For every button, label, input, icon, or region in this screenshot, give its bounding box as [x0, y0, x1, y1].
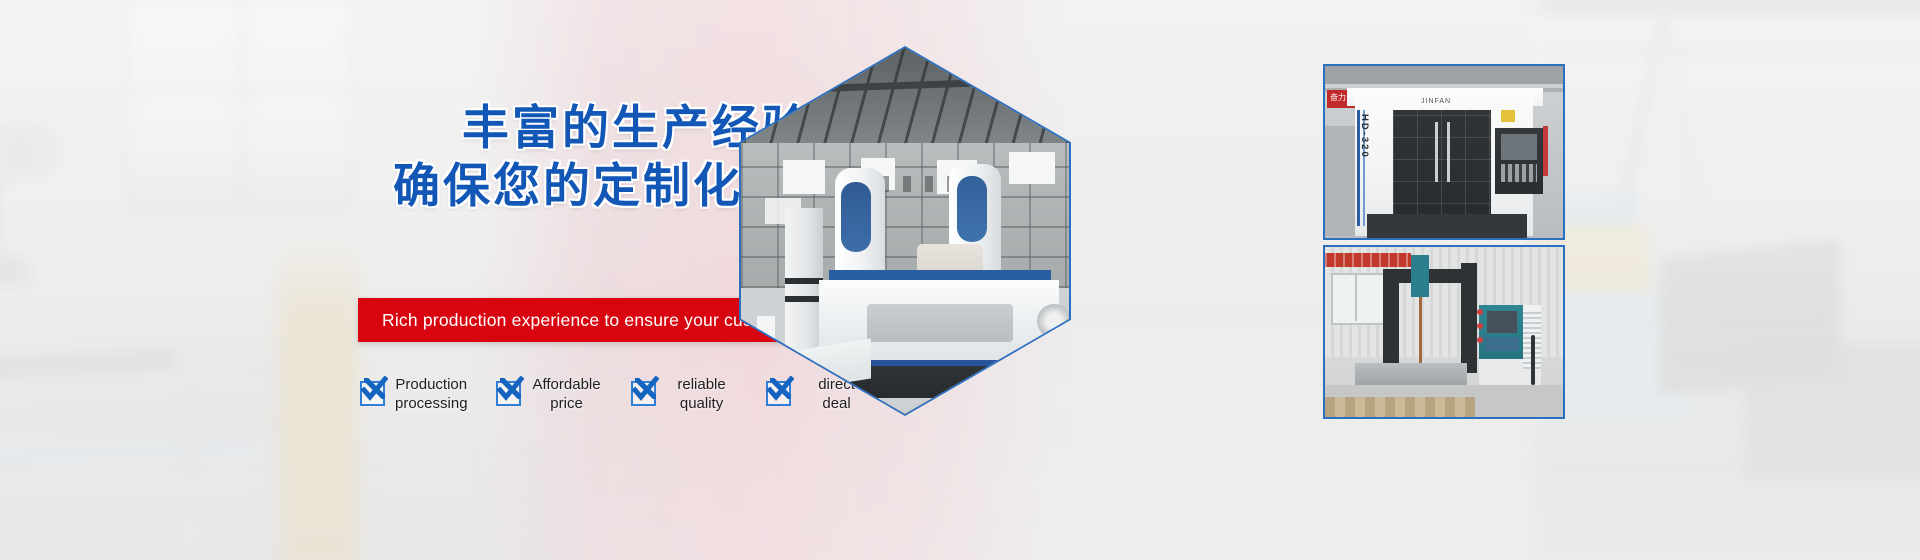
warning-label	[1501, 110, 1515, 122]
pendant-cable	[1531, 335, 1535, 385]
feature-label-line-2: quality	[666, 394, 738, 413]
machine-gantry-left-window	[841, 182, 871, 252]
machine-reel	[1037, 304, 1069, 338]
feature-label-line-1: Affordable	[531, 375, 603, 394]
door-handle	[1435, 122, 1438, 182]
control-cabinet-screen	[1487, 311, 1517, 333]
feature-item-production-processing[interactable]: Production processing	[360, 375, 468, 413]
machine-conveyor	[751, 338, 871, 397]
status-led-green	[760, 348, 765, 353]
indicator-button	[1477, 323, 1483, 329]
feature-item-affordable-price[interactable]: Affordable price	[496, 375, 603, 413]
machine-brand-label: JINFAN	[1421, 98, 1451, 105]
feature-label-line-1: Production	[395, 375, 468, 394]
machine-left-slot	[785, 296, 823, 302]
control-panel-screen	[1501, 134, 1537, 160]
checkbox-icon[interactable]	[360, 381, 385, 406]
feature-label: Affordable price	[531, 375, 603, 413]
machine-base	[1367, 214, 1527, 238]
workshop-floor	[741, 398, 1069, 414]
machine-left-slot	[785, 278, 823, 284]
window-mullion	[1355, 273, 1357, 321]
feature-label-line-1: reliable	[666, 375, 738, 394]
thumbnail-edm-machine[interactable]	[1323, 245, 1565, 419]
workshop-window	[1331, 273, 1385, 325]
promo-banner: 丰富的生产经验 确保您的定制化需求 Rich production experi…	[0, 0, 1920, 560]
wooden-pallet	[1325, 397, 1475, 419]
feature-label: reliable quality	[666, 375, 738, 413]
machine-column-left	[1383, 273, 1399, 369]
feature-label: Production processing	[395, 375, 468, 413]
machine-gantry-right-window	[957, 176, 987, 242]
check-icon	[631, 376, 659, 404]
machine-model-label: HD-320	[1359, 114, 1370, 159]
feature-item-reliable-quality[interactable]: reliable quality	[631, 375, 738, 413]
workshop-window	[783, 160, 825, 194]
machine-left-column	[785, 208, 823, 398]
check-icon	[360, 376, 388, 404]
checkbox-icon[interactable]	[631, 381, 656, 406]
workshop-window	[1009, 152, 1055, 184]
feature-label-line-2: price	[531, 394, 603, 413]
hexagon-photo	[741, 48, 1069, 414]
check-icon	[496, 376, 524, 404]
wall-banner-text-blur	[1325, 253, 1411, 267]
checkbox-icon[interactable]	[496, 381, 521, 406]
machine-body-window	[867, 304, 1013, 342]
machine-column-right	[1461, 263, 1477, 373]
status-led-red	[768, 348, 773, 353]
machine-door-glass	[1393, 110, 1491, 226]
background-machine	[1325, 126, 1355, 236]
door-handle	[1447, 122, 1450, 182]
indicator-button	[1477, 337, 1483, 343]
feature-label-line-2: processing	[395, 394, 468, 413]
workshop-beam	[1325, 66, 1563, 84]
indicator-button	[1477, 309, 1483, 315]
wall-banner-text: 奋力	[1330, 92, 1346, 103]
machine-control-box	[757, 316, 775, 356]
control-panel-keypad	[1501, 164, 1537, 182]
machine-electrode	[1419, 297, 1422, 369]
control-cabinet-keypad	[1485, 337, 1519, 351]
machine-head	[1411, 255, 1429, 297]
machine-red-accent	[1543, 126, 1548, 176]
thumbnail-machining-center[interactable]: 奋力 HD-320 JINFAN	[1323, 64, 1565, 240]
hero-hexagon-image[interactable]	[739, 46, 1071, 416]
